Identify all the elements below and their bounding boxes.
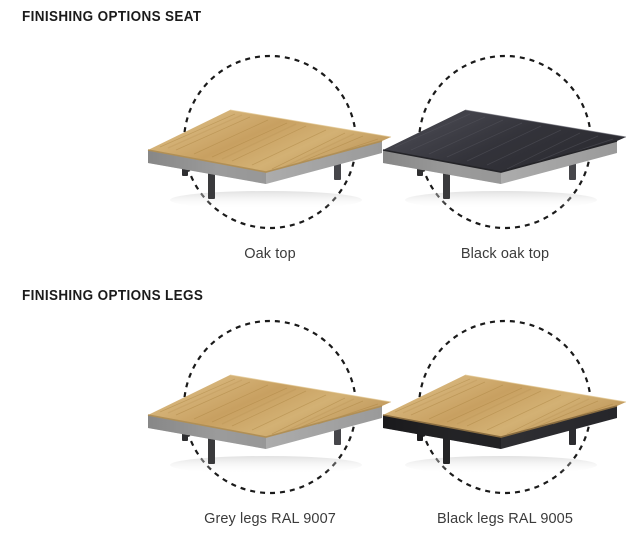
option-circle-grey-legs [182, 319, 358, 495]
option-oak-top[interactable]: Oak top [140, 46, 400, 276]
product-illustration-grey-legs [138, 349, 406, 479]
option-caption-black-oak-top: Black oak top [375, 246, 630, 262]
section-legs: Grey legs RAL 9007 [0, 311, 630, 541]
product-illustration-black-oak-top [373, 84, 630, 214]
option-circle-black-legs [417, 319, 593, 495]
option-caption-grey-legs: Grey legs RAL 9007 [140, 511, 400, 527]
section-heading-seat: FINISHING OPTIONS SEAT [22, 9, 202, 25]
option-black-oak-top[interactable]: Black oak top [375, 46, 630, 276]
option-caption-oak-top: Oak top [140, 246, 400, 262]
option-caption-black-legs: Black legs RAL 9005 [375, 511, 630, 527]
options-row-seat: Oak top [0, 46, 630, 276]
option-black-legs[interactable]: Black legs RAL 9005 [375, 311, 630, 541]
product-illustration-black-legs [373, 349, 630, 479]
options-row-legs: Grey legs RAL 9007 [0, 311, 630, 541]
option-circle-oak-top [182, 54, 358, 230]
option-grey-legs[interactable]: Grey legs RAL 9007 [140, 311, 400, 541]
product-illustration-oak-top [138, 84, 406, 214]
section-seat: Oak top [0, 46, 630, 276]
section-heading-legs: FINISHING OPTIONS LEGS [22, 288, 203, 304]
finishing-options-page: FINISHING OPTIONS SEAT [0, 0, 630, 555]
option-circle-black-oak-top [417, 54, 593, 230]
